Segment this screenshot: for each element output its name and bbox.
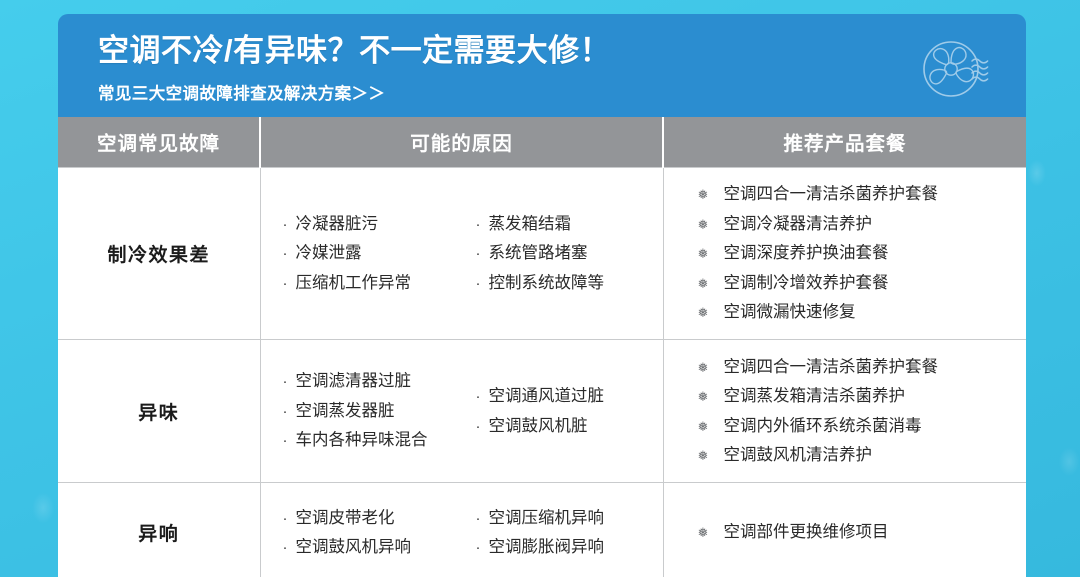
cause-text: 压缩机工作异常	[296, 275, 412, 292]
bullet-dot-icon: ·	[476, 389, 489, 404]
page-subtitle: 常见三大空调故障排查及解决方案＞＞	[98, 80, 1026, 104]
snowflake-icon: ❅	[698, 247, 724, 260]
column-header-fault: 空调常见故障	[58, 117, 260, 167]
causes-column-right: · 空调通风道过脏 · 空调鼓风机脏	[476, 367, 653, 456]
cause-text: 空调通风道过脏	[489, 388, 605, 405]
cause-text: 冷媒泄露	[296, 245, 362, 262]
table-header: 空调常见故障 可能的原因 推荐产品套餐	[58, 117, 1026, 167]
cause-text: 空调蒸发器脏	[296, 403, 395, 420]
list-item: ❅ 空调微漏快速修复	[698, 298, 1017, 328]
list-item: · 蒸发箱结霜	[476, 209, 653, 239]
list-item: · 空调通风道过脏	[476, 382, 653, 412]
causes-cell: · 冷凝器脏污 · 冷媒泄露 · 压缩机工作异常	[260, 167, 663, 340]
causes-column-left: · 空调皮带老化 · 空调鼓风机异响	[283, 503, 460, 562]
bullet-dot-icon: ·	[476, 246, 489, 261]
infographic-card: 空调不冷/有异味？不一定需要大修！ 常见三大空调故障排查及解决方案＞＞ 空调常见…	[58, 14, 1026, 562]
causes-column-left: · 冷凝器脏污 · 冷媒泄露 · 压缩机工作异常	[283, 209, 460, 298]
cause-text: 空调膨胀阀异响	[489, 539, 605, 556]
bullet-dot-icon: ·	[283, 217, 296, 232]
fan-blower-icon	[920, 34, 994, 104]
list-item: ❅ 空调冷凝器清洁养护	[698, 209, 1017, 239]
snowflake-icon: ❅	[698, 390, 724, 403]
cause-text: 系统管路堵塞	[489, 245, 588, 262]
bullet-dot-icon: ·	[476, 540, 489, 555]
list-item: · 压缩机工作异常	[283, 268, 460, 298]
snowflake-icon: ❅	[698, 277, 724, 290]
list-item: · 冷凝器脏污	[283, 209, 460, 239]
list-item: · 车内各种异味混合	[283, 426, 460, 456]
list-item: · 空调压缩机异响	[476, 503, 653, 533]
list-item: · 空调鼓风机脏	[476, 411, 653, 441]
title-banner: 空调不冷/有异味？不一定需要大修！ 常见三大空调故障排查及解决方案＞＞	[58, 14, 1026, 117]
package-text: 空调深度养护换油套餐	[724, 245, 889, 262]
package-text: 空调部件更换维修项目	[724, 524, 889, 541]
cause-text: 冷凝器脏污	[296, 216, 379, 233]
cause-text: 车内各种异味混合	[296, 432, 428, 449]
table-row: 制冷效果差 · 冷凝器脏污 · 冷媒泄露	[58, 167, 1026, 340]
bullet-dot-icon: ·	[476, 511, 489, 526]
list-item: ❅ 空调制冷增效养护套餐	[698, 268, 1017, 298]
fault-name-cell: 异响	[58, 483, 260, 577]
list-item: · 空调膨胀阀异响	[476, 533, 653, 563]
list-item: · 空调皮带老化	[283, 503, 460, 533]
page-title: 空调不冷/有异味？不一定需要大修！	[98, 32, 1026, 71]
column-header-packages: 推荐产品套餐	[663, 117, 1026, 167]
list-item: ❅ 空调鼓风机清洁养护	[698, 441, 1017, 471]
packages-cell: ❅ 空调四合一清洁杀菌养护套餐 ❅ 空调冷凝器清洁养护 ❅ 空调深度养护换油套餐	[663, 167, 1026, 340]
cause-text: 空调滤清器过脏	[296, 373, 412, 390]
bullet-dot-icon: ·	[283, 540, 296, 555]
table-body: 制冷效果差 · 冷凝器脏污 · 冷媒泄露	[58, 167, 1026, 577]
list-item: · 空调滤清器过脏	[283, 367, 460, 397]
package-text: 空调内外循环系统杀菌消毒	[724, 418, 922, 435]
cause-text: 蒸发箱结霜	[489, 216, 572, 233]
cause-text: 空调皮带老化	[296, 510, 395, 527]
cause-text: 空调鼓风机异响	[296, 539, 412, 556]
package-text: 空调微漏快速修复	[724, 304, 856, 321]
packages-cell: ❅ 空调四合一清洁杀菌养护套餐 ❅ 空调蒸发箱清洁杀菌养护 ❅ 空调内外循环系统…	[663, 340, 1026, 483]
bullet-dot-icon: ·	[476, 276, 489, 291]
cause-text: 空调压缩机异响	[489, 510, 605, 527]
list-item: · 控制系统故障等	[476, 268, 653, 298]
causes-column-left: · 空调滤清器过脏 · 空调蒸发器脏 · 车内各种异味混合	[283, 367, 460, 456]
list-item: ❅ 空调四合一清洁杀菌养护套餐	[698, 352, 1017, 382]
list-item: ❅ 空调蒸发箱清洁杀菌养护	[698, 382, 1017, 412]
list-item: ❅ 空调内外循环系统杀菌消毒	[698, 411, 1017, 441]
snowflake-icon: ❅	[698, 218, 724, 231]
snowflake-icon: ❅	[698, 526, 724, 539]
snowflake-icon: ❅	[698, 361, 724, 374]
bullet-dot-icon: ·	[283, 404, 296, 419]
list-item: ❅ 空调部件更换维修项目	[698, 518, 1017, 548]
bullet-dot-icon: ·	[476, 217, 489, 232]
causes-cell: · 空调滤清器过脏 · 空调蒸发器脏 · 车内各种异味混合	[260, 340, 663, 483]
list-item: · 空调蒸发器脏	[283, 396, 460, 426]
bullet-dot-icon: ·	[283, 374, 296, 389]
package-text: 空调制冷增效养护套餐	[724, 275, 889, 292]
snowflake-icon: ❅	[698, 420, 724, 433]
fault-solution-table: 空调常见故障 可能的原因 推荐产品套餐 制冷效果差 · 冷凝器脏污	[58, 117, 1026, 577]
fault-name-cell: 制冷效果差	[58, 167, 260, 340]
package-text: 空调四合一清洁杀菌养护套餐	[724, 186, 939, 203]
bullet-dot-icon: ·	[283, 511, 296, 526]
causes-cell: · 空调皮带老化 · 空调鼓风机异响 · 空调压缩机异响	[260, 483, 663, 577]
causes-column-right: · 空调压缩机异响 · 空调膨胀阀异响	[476, 503, 653, 562]
list-item: · 冷媒泄露	[283, 239, 460, 269]
column-header-causes: 可能的原因	[260, 117, 663, 167]
table-row: 异味 · 空调滤清器过脏 · 空调蒸发器脏	[58, 340, 1026, 483]
snowflake-icon: ❅	[698, 306, 724, 319]
bullet-dot-icon: ·	[283, 276, 296, 291]
cause-text: 空调鼓风机脏	[489, 418, 588, 435]
package-text: 空调四合一清洁杀菌养护套餐	[724, 359, 939, 376]
table-row: 异响 · 空调皮带老化 · 空调鼓风机异响	[58, 483, 1026, 577]
package-text: 空调蒸发箱清洁杀菌养护	[724, 388, 906, 405]
list-item: · 空调鼓风机异响	[283, 533, 460, 563]
list-item: · 系统管路堵塞	[476, 239, 653, 269]
list-item: ❅ 空调四合一清洁杀菌养护套餐	[698, 180, 1017, 210]
table-header-row: 空调常见故障 可能的原因 推荐产品套餐	[58, 117, 1026, 167]
fault-name-cell: 异味	[58, 340, 260, 483]
causes-column-right: · 蒸发箱结霜 · 系统管路堵塞 · 控制系统故障等	[476, 209, 653, 298]
packages-cell: ❅ 空调部件更换维修项目	[663, 483, 1026, 577]
snowflake-icon: ❅	[698, 188, 724, 201]
snowflake-icon: ❅	[698, 449, 724, 462]
cause-text: 控制系统故障等	[489, 275, 605, 292]
bullet-dot-icon: ·	[283, 246, 296, 261]
bullet-dot-icon: ·	[476, 419, 489, 434]
list-item: ❅ 空调深度养护换油套餐	[698, 239, 1017, 269]
package-text: 空调鼓风机清洁养护	[724, 447, 873, 464]
bullet-dot-icon: ·	[283, 433, 296, 448]
package-text: 空调冷凝器清洁养护	[724, 216, 873, 233]
